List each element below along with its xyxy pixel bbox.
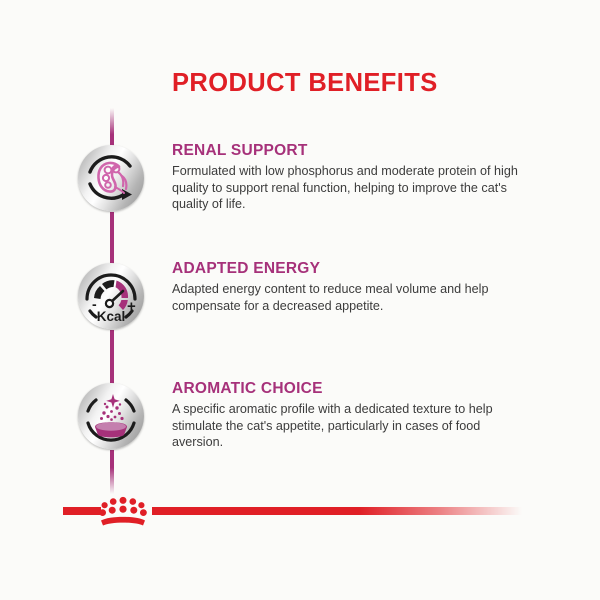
kcal-gauge-icon: - + Kcal (78, 263, 144, 329)
benefit-body: A specific aromatic profile with a dedic… (172, 401, 534, 451)
benefit-body: Adapted energy content to reduce meal vo… (172, 281, 534, 314)
kidney-renal-icon (78, 145, 144, 211)
footer-bar-left-segment (63, 507, 101, 515)
product-benefits-panel: PRODUCT BENEFITS (0, 0, 600, 600)
kcal-plus-label: + (127, 298, 136, 315)
footer-brand-bar (0, 495, 600, 537)
benefit-text-block: AROMATIC CHOICE A specific aromatic prof… (172, 380, 534, 451)
benefit-text-block: RENAL SUPPORT Formulated with low phosph… (172, 142, 534, 213)
benefit-text-block: ADAPTED ENERGY Adapted energy content to… (172, 260, 534, 314)
benefit-heading: ADAPTED ENERGY (172, 260, 534, 278)
royal-canin-crown-logo (97, 495, 149, 529)
aroma-bowl-icon (78, 383, 144, 449)
connector-line-bottom (110, 450, 114, 494)
benefit-heading: AROMATIC CHOICE (172, 380, 534, 398)
page-title: PRODUCT BENEFITS (172, 69, 438, 98)
footer-bar-right-segment (152, 507, 522, 515)
kcal-text-label: Kcal (97, 309, 126, 324)
benefit-heading: RENAL SUPPORT (172, 142, 534, 160)
benefit-body: Formulated with low phosphorus and moder… (172, 163, 534, 213)
connector-line-2 (110, 330, 114, 390)
